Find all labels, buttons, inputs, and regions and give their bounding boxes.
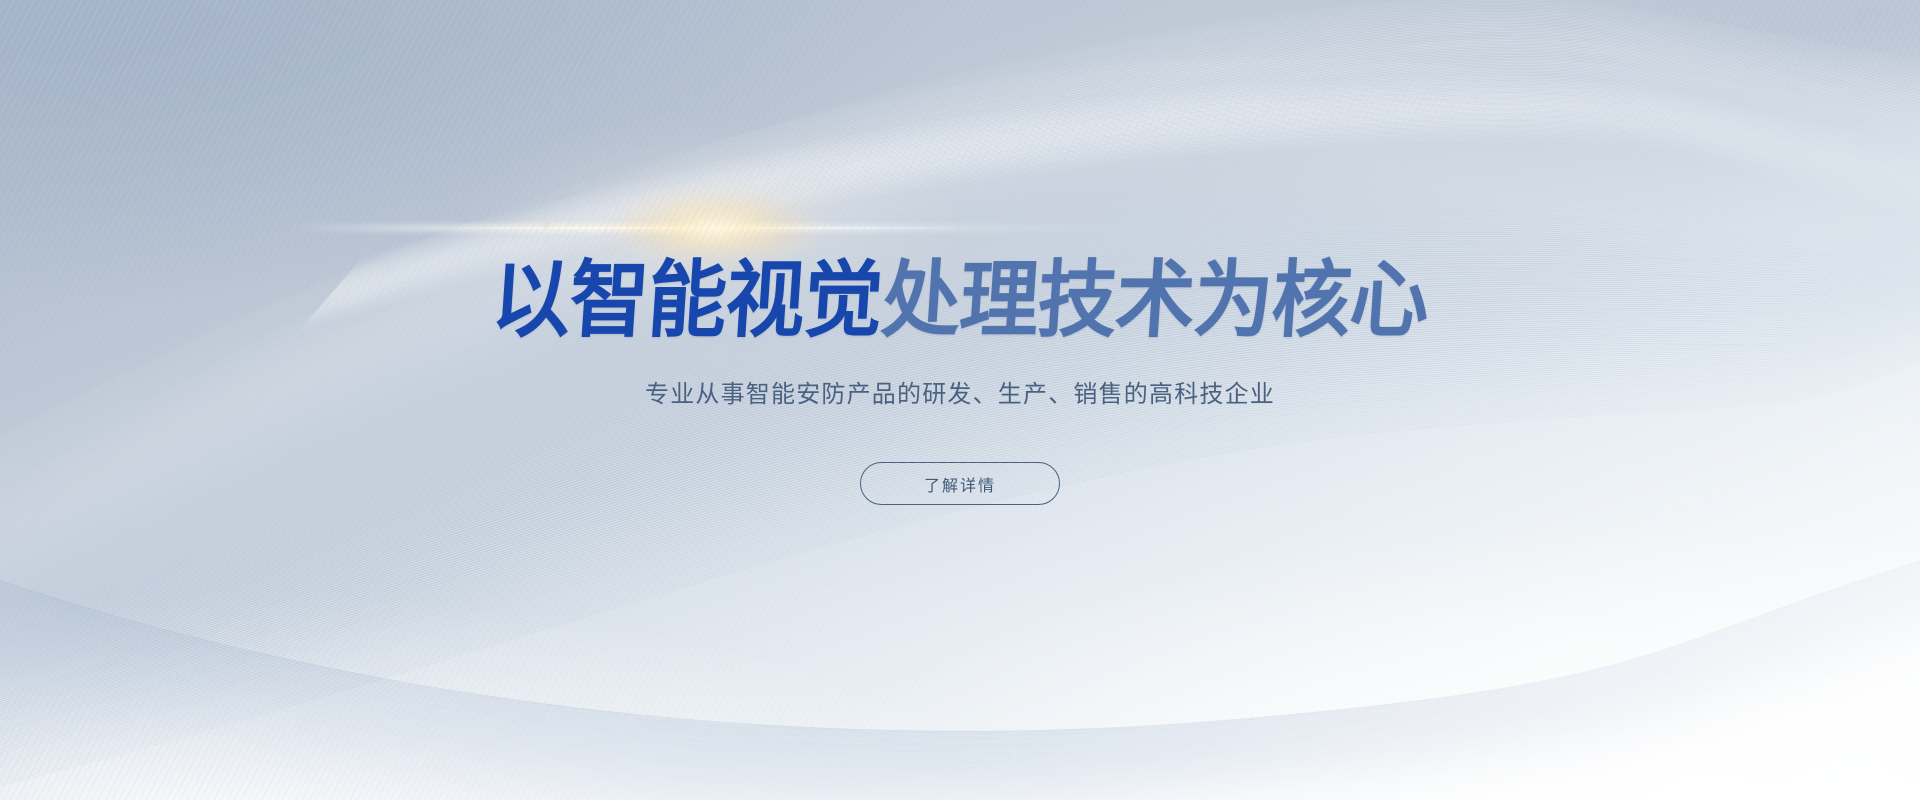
hero-title-primary: 以智能视觉 <box>489 251 886 349</box>
hero-title: 以智能视觉处理技术为核心 <box>489 258 1431 342</box>
hero-banner: 以智能视觉处理技术为核心 专业从事智能安防产品的研发、生产、销售的高科技企业 了… <box>0 0 1920 800</box>
hero-title-secondary: 处理技术为核心 <box>879 251 1432 349</box>
hero-subtitle: 专业从事智能安防产品的研发、生产、销售的高科技企业 <box>645 382 1275 406</box>
learn-more-button[interactable]: 了解详情 <box>860 462 1060 505</box>
hero-content: 以智能视觉处理技术为核心 专业从事智能安防产品的研发、生产、销售的高科技企业 了… <box>0 0 1920 800</box>
